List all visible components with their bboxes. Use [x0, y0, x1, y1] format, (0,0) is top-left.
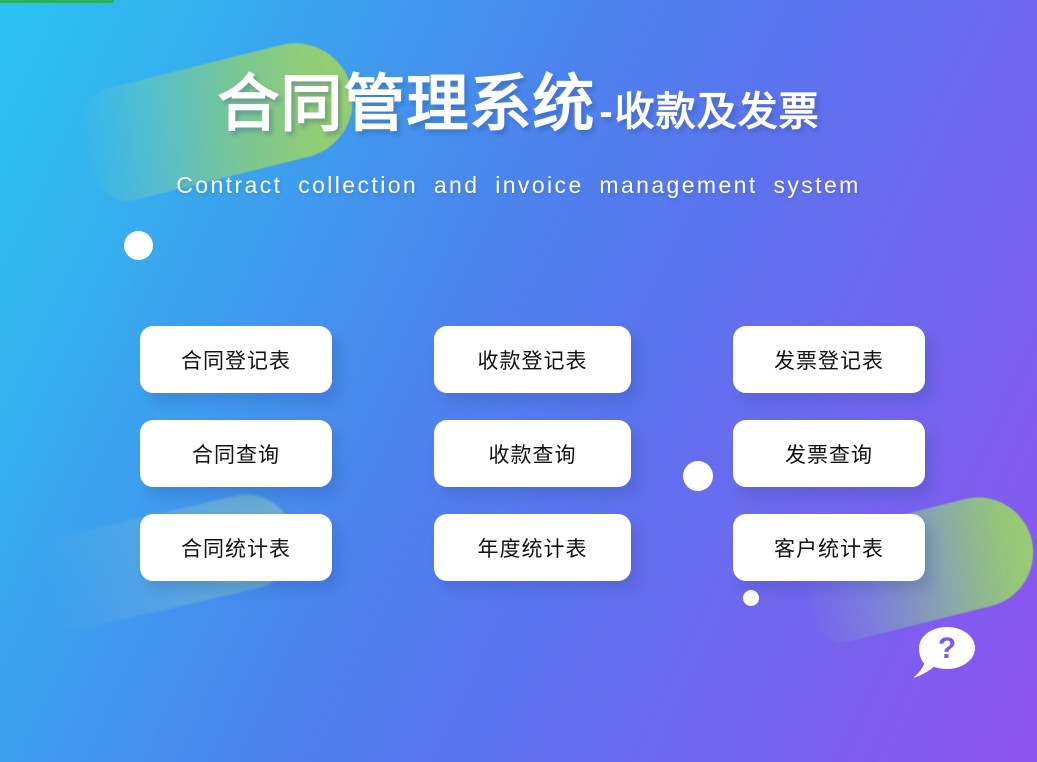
green-swoosh-title-decoration [75, 31, 365, 208]
menu-button-annual-stats[interactable]: 年度统计表 [434, 514, 631, 581]
menu-button-contract-query[interactable]: 合同查询 [140, 420, 332, 487]
page-title-separator: - [599, 92, 612, 132]
app-root: 合同管理系统 - 收款及发票 Contract collection and i… [0, 0, 1037, 762]
page-title-main: 合同管理系统 [217, 74, 595, 136]
menu-button-collection-register[interactable]: 收款登记表 [434, 326, 631, 393]
main-menu-grid: 合同登记表 收款登记表 发票登记表 合同查询 收款查询 发票查询 合同统计表 年… [140, 326, 930, 581]
question-speech-bubble-icon: ? [911, 625, 978, 683]
page-title: 合同管理系统 - 收款及发票 [0, 74, 1037, 136]
help-button[interactable]: ? [911, 625, 978, 683]
page-load-progress-bar [0, 0, 1037, 3]
menu-button-contract-stats[interactable]: 合同统计表 [140, 514, 332, 581]
menu-button-invoice-query[interactable]: 发票查询 [733, 420, 925, 487]
dot-bottom-decoration [743, 590, 759, 606]
menu-button-invoice-register[interactable]: 发票登记表 [733, 326, 925, 393]
help-glyph: ? [938, 632, 956, 665]
menu-button-contract-register[interactable]: 合同登记表 [140, 326, 332, 393]
page-title-module: 收款及发票 [615, 92, 820, 132]
page-subtitle: Contract collection and invoice manageme… [0, 172, 1037, 199]
page-load-progress-fill [0, 0, 114, 3]
menu-button-customer-stats[interactable]: 客户统计表 [733, 514, 925, 581]
menu-button-collection-query[interactable]: 收款查询 [434, 420, 631, 487]
dot-top-left-decoration [124, 231, 153, 260]
